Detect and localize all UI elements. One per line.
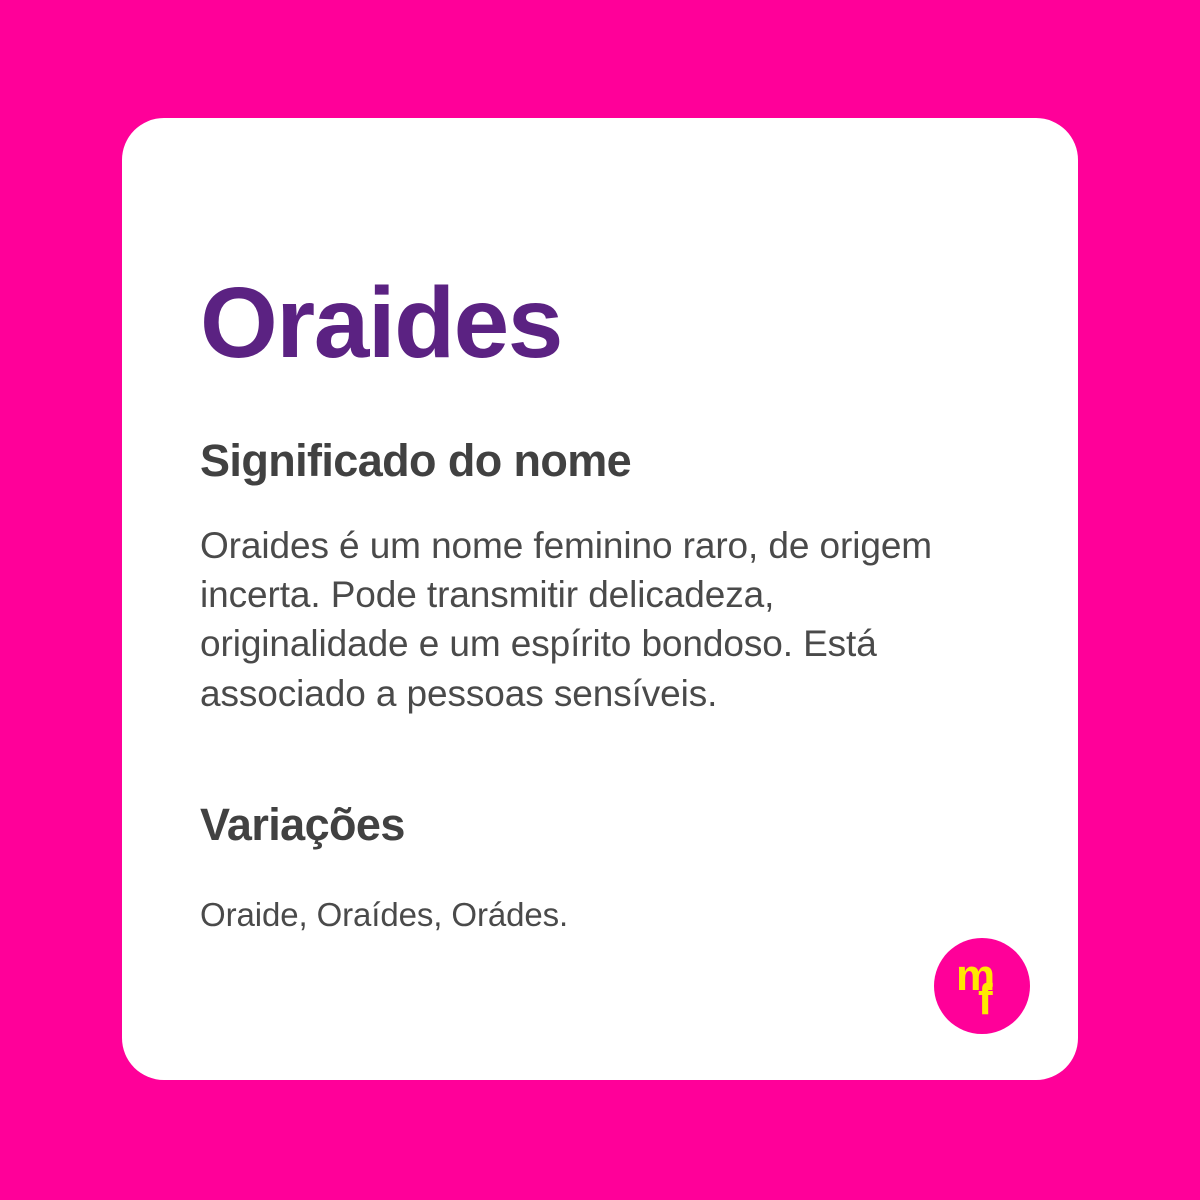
page-title: Oraides <box>200 270 562 376</box>
brand-logo-badge: m f <box>934 938 1030 1034</box>
section-heading-variations: Variações <box>200 800 405 850</box>
logo-letter-f: f <box>978 978 993 1022</box>
name-info-card: Oraides Significado do nome Oraides é um… <box>122 118 1078 1080</box>
section-body-variations: Oraide, Oraídes, Orádes. <box>200 894 940 937</box>
section-body-meaning: Oraides é um nome feminino raro, de orig… <box>200 521 940 718</box>
page-background: Oraides Significado do nome Oraides é um… <box>0 0 1200 1200</box>
section-heading-meaning: Significado do nome <box>200 436 631 486</box>
